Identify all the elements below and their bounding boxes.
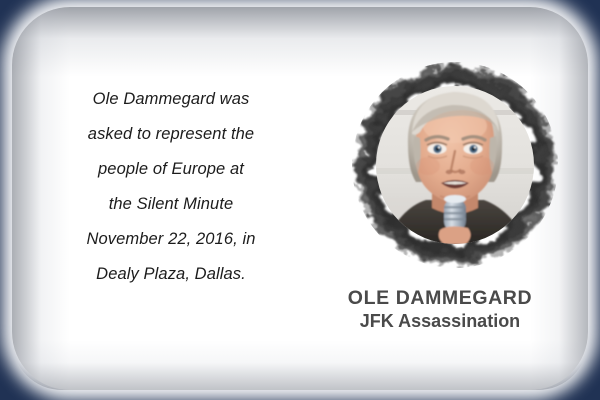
quote-line: the Silent Minute — [34, 187, 308, 222]
speaker-quote-card: Ole Dammegard was asked to represent the… — [0, 0, 600, 400]
quote-line: Dealy Plaza, Dallas. — [34, 257, 308, 292]
portrait-photo — [352, 48, 558, 284]
quote-text: Ole Dammegard was asked to represent the… — [34, 82, 308, 292]
person-name: OLE DAMMEGARD — [320, 287, 560, 309]
quote-line: people of Europe at — [34, 152, 308, 187]
speaker-name-block: OLE DAMMEGARD JFK Assassination — [320, 287, 560, 333]
quote-line: asked to represent the — [34, 117, 308, 152]
quote-line: Ole Dammegard was — [34, 82, 308, 117]
quote-line: November 22, 2016, in — [34, 222, 308, 257]
person-role: JFK Assassination — [320, 309, 560, 333]
